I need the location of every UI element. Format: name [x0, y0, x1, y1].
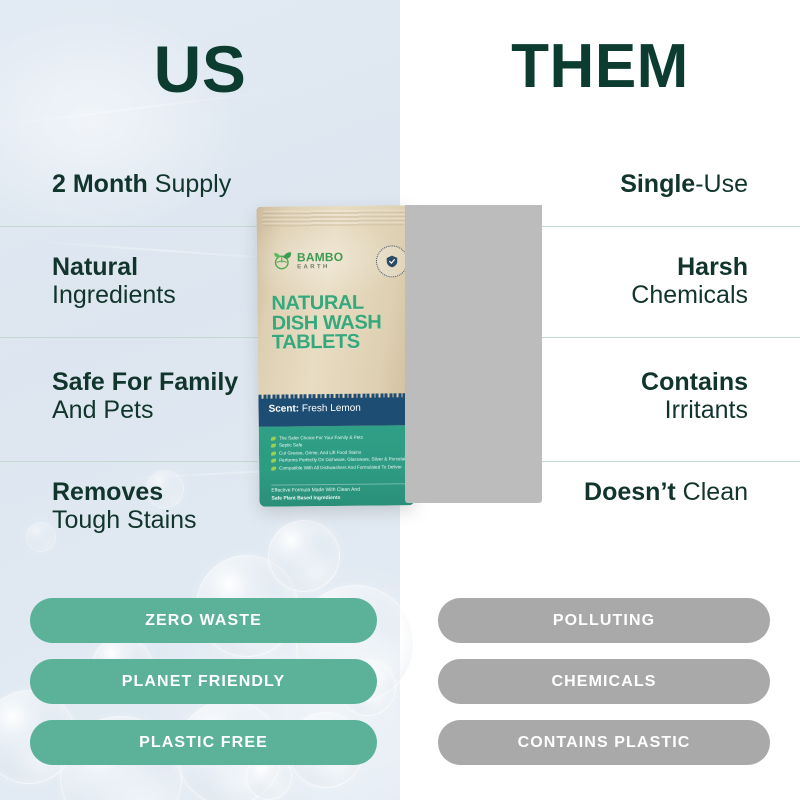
divider-1-left: [0, 226, 258, 227]
pill-us-3[interactable]: PLASTIC FREE: [30, 720, 377, 765]
feature-them-4: Doesn’t Clean: [584, 478, 748, 506]
feature-them-1-rest: -Use: [695, 170, 748, 198]
feature-us-2-bold: Natural: [52, 253, 176, 281]
feature-us-2: Natural Ingredients: [52, 253, 176, 309]
image-mask-overlay: [405, 205, 542, 503]
shield-check-icon: [385, 254, 399, 268]
package-footnote: Effective Formula Made With Clean And Sa…: [271, 483, 406, 502]
brand-subtitle: EARTH: [297, 263, 343, 269]
footnote-line-2: Safe Plant Based Ingredients: [271, 494, 340, 501]
feature-us-3-bold: Safe For Family: [52, 368, 238, 396]
feature-us-2-rest: Ingredients: [52, 281, 176, 309]
pill-them-3[interactable]: CONTAINS PLASTIC: [438, 720, 770, 765]
feature-them-2: Harsh Chemicals: [631, 253, 748, 309]
feature-them-4-bold: Doesn’t: [584, 478, 676, 506]
feature-us-3-rest: And Pets: [52, 396, 238, 424]
header-us: US: [0, 36, 400, 102]
feature-them-3: Contains Irritants: [641, 368, 748, 424]
comparison-infographic: US THEM 2 Month Supply Natural Ingredien…: [0, 0, 800, 800]
scent-text: Scent: Fresh Lemon: [269, 404, 361, 415]
leaf-globe-icon: [273, 250, 293, 270]
product-title-line-3: TABLETS: [272, 332, 403, 353]
feature-us-4: Removes Tough Stains: [52, 478, 197, 534]
feature-us-1: 2 Month Supply: [52, 170, 231, 198]
pill-us-1[interactable]: ZERO WASTE: [30, 598, 377, 643]
feature-us-4-bold: Removes: [52, 478, 197, 506]
product-package-image: BAMBO EARTH NATURAL DISH WASH TABLETS Sc…: [256, 205, 414, 507]
certification-badge: [376, 245, 408, 277]
divider-3-left: [0, 461, 258, 462]
header-them: THEM: [400, 36, 800, 98]
feature-us-4-rest: Tough Stains: [52, 506, 197, 534]
pill-us-2[interactable]: PLANET FRIENDLY: [30, 659, 377, 704]
feature-them-2-rest: Chemicals: [631, 281, 748, 309]
scent-label: Scent:: [268, 403, 299, 414]
package-benefit-list: The Safer Choice For Your Family & Pets …: [271, 433, 408, 472]
feature-us-1-bold: 2 Month: [52, 170, 148, 198]
feature-us-3: Safe For Family And Pets: [52, 368, 238, 424]
feature-them-4-rest: Clean: [676, 478, 748, 506]
product-title: NATURAL DISH WASH TABLETS: [271, 293, 403, 353]
divider-3-right: [542, 461, 800, 462]
feature-them-1: Single-Use: [620, 170, 748, 198]
list-item: Compatible With All Dishwashers And Form…: [271, 463, 408, 472]
brand-name: BAMBO: [297, 250, 343, 262]
divider-1-right: [542, 226, 800, 227]
brand-logo: BAMBO EARTH: [273, 250, 344, 271]
feature-us-1-rest: Supply: [148, 170, 231, 198]
pill-them-1[interactable]: POLLUTING: [438, 598, 770, 643]
pill-them-2[interactable]: CHEMICALS: [438, 659, 770, 704]
divider-2-right: [542, 337, 800, 338]
scent-value: Fresh Lemon: [299, 403, 361, 415]
feature-them-3-bold: Contains: [641, 368, 748, 396]
feature-them-3-rest: Irritants: [641, 396, 748, 424]
feature-them-1-bold: Single: [620, 170, 695, 198]
package-top-seal: [262, 209, 405, 226]
divider-2-left: [0, 337, 258, 338]
feature-them-2-bold: Harsh: [631, 253, 748, 281]
